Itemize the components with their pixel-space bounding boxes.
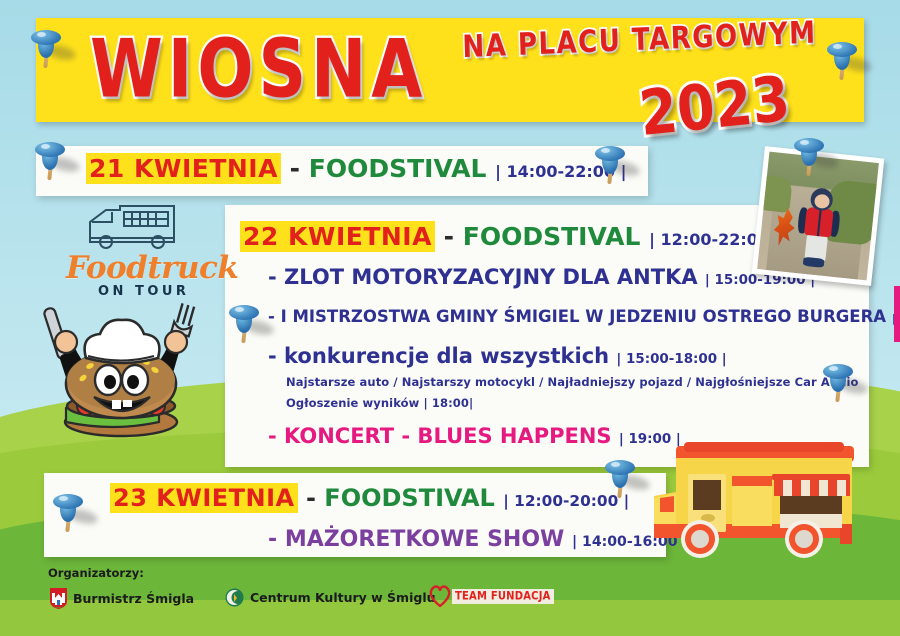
day-22-item-zlot: - ZLOT MOTORYZACYJNY DLA ANTKA | 15:00-1… — [268, 265, 815, 289]
day-22-item-mistrzostwa: - I MISTRZOSTWA GMINY ŚMIGIEL W JEDZENIU… — [268, 307, 900, 326]
day-23-event: FOODSTIVAL — [324, 484, 495, 512]
day-22-item-koncert: - KONCERT - BLUES HAPPENS | 19:00 | — [268, 424, 681, 448]
photo-grass-left — [757, 174, 793, 213]
item-label: KONCERT - BLUES HAPPENS — [284, 424, 612, 448]
team-fundacja-name: TEAM FUNDACJA — [452, 589, 554, 604]
pushpin-icon — [594, 144, 628, 186]
day-21-date: 21 KWIETNIA — [86, 153, 281, 184]
day-22-subtext-line1: Najstarsze auto / Najstarszy motocykl / … — [286, 375, 859, 389]
day-23-item-mazoretki: - MAŻORETKOWE SHOW | 14:00-16:00 | — [268, 527, 688, 552]
heart-icon — [428, 585, 452, 607]
team-fundacja-logo: TEAM FUNDACJA — [428, 585, 554, 607]
organizer-name: Centrum Kultury w Śmiglu — [250, 590, 436, 605]
page-title: WIOSNA — [90, 22, 427, 116]
item-dash: - — [268, 344, 277, 368]
pushpin-icon — [793, 136, 827, 178]
item-dash: - — [268, 265, 277, 289]
item-dash: - — [268, 424, 277, 448]
organizer-burmistrz: Burmistrz Śmigla — [50, 588, 194, 609]
day-23-date: 23 KWIETNIA — [110, 483, 298, 513]
pushpin-icon — [52, 492, 86, 534]
burger-mascot-icon — [28, 296, 214, 438]
day-21-line: 21 KWIETNIA - FOODSTIVAL | 14:00-22:00 | — [86, 154, 626, 183]
item-dash: - — [268, 307, 275, 326]
day-21-event: FOODSTIVAL — [309, 154, 487, 183]
organizers-label: Organizatorzy: — [48, 566, 144, 580]
item-label: I MISTRZOSTWA GMINY ŚMIGIEL W JEDZENIU O… — [281, 307, 886, 326]
day-21-dash: - — [290, 154, 300, 183]
item-label: MAŻORETKOWE SHOW — [285, 527, 565, 552]
pushpin-icon — [228, 303, 262, 345]
day-22-item-konkurencje: - konkurencje dla wszystkich | 15:00-18:… — [268, 344, 727, 368]
pushpin-icon — [822, 362, 856, 404]
photo-vest — [804, 207, 834, 238]
item-label: konkurencje dla wszystkich — [284, 344, 609, 368]
day-23-line: 23 KWIETNIA - FOODSTIVAL | 12:00-20:00 | — [110, 484, 629, 512]
day-22-subtext-line2: Ogłoszenie wyników | 18:00| — [286, 396, 473, 410]
day-23-dash: - — [306, 484, 316, 512]
organizer-centrum-kultury: Centrum Kultury w Śmiglu — [225, 588, 436, 607]
day-22-line: 22 KWIETNIA - FOODSTIVAL | 12:00-22:00 | — [240, 222, 780, 251]
pushpin-icon — [34, 140, 68, 182]
foodtruck-on-tour-logo: Foodtruck ON TOUR — [62, 198, 212, 303]
accent-strip-pink — [894, 286, 900, 342]
poster-root: WIOSNA NA PLACU TARGOWYM 2023 21 KWIETNI… — [0, 0, 900, 636]
pushpin-icon — [604, 458, 638, 500]
food-truck-outline-icon — [62, 198, 212, 254]
foodtruck-logo-word: Foodtruck — [66, 250, 238, 286]
day-22-event: FOODSTIVAL — [463, 222, 641, 251]
item-time: | 15:00-18:00 | — [616, 352, 726, 367]
organizer-team-fundacja: TEAM FUNDACJA — [428, 585, 554, 607]
pushpin-icon — [826, 40, 860, 82]
smigiel-coat-of-arms-icon — [50, 588, 67, 609]
day-22-dash: - — [444, 222, 454, 251]
item-dash: - — [268, 527, 277, 552]
day-22-date: 22 KWIETNIA — [240, 221, 435, 252]
culture-center-logo-icon — [225, 588, 244, 607]
organizer-name: Burmistrz Śmigla — [73, 591, 194, 606]
item-label: ZLOT MOTORYZACYJNY DLA ANTKA — [284, 265, 698, 289]
food-truck-icon — [640, 440, 890, 570]
pushpin-icon — [30, 28, 64, 70]
